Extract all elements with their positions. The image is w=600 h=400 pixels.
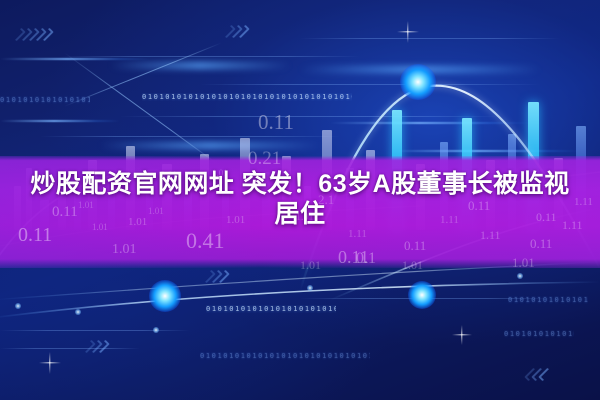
headline-text: 炒股配资官网网址 突发！63岁A股董事长被监视 居住 bbox=[0, 170, 600, 229]
lower-line-glow bbox=[149, 280, 181, 312]
node-dot bbox=[15, 303, 21, 309]
sparkle-upper-icon bbox=[397, 21, 419, 43]
headline-line-1: 炒股配资官网网址 突发！63岁A股董事长被监视 bbox=[0, 170, 600, 200]
node-dot bbox=[517, 273, 523, 279]
lower-line-glow-2 bbox=[408, 281, 436, 309]
sparkle-mid-icon bbox=[452, 325, 472, 345]
banner-image: 0101010101010101010101010101010101010101… bbox=[0, 0, 600, 400]
node-dot bbox=[307, 285, 313, 291]
arc-peak-glow bbox=[400, 64, 436, 100]
headline-line-2: 居住 bbox=[0, 200, 600, 230]
sparkle-lower-icon bbox=[39, 352, 61, 374]
node-dot bbox=[153, 327, 159, 333]
node-dot bbox=[75, 309, 81, 315]
